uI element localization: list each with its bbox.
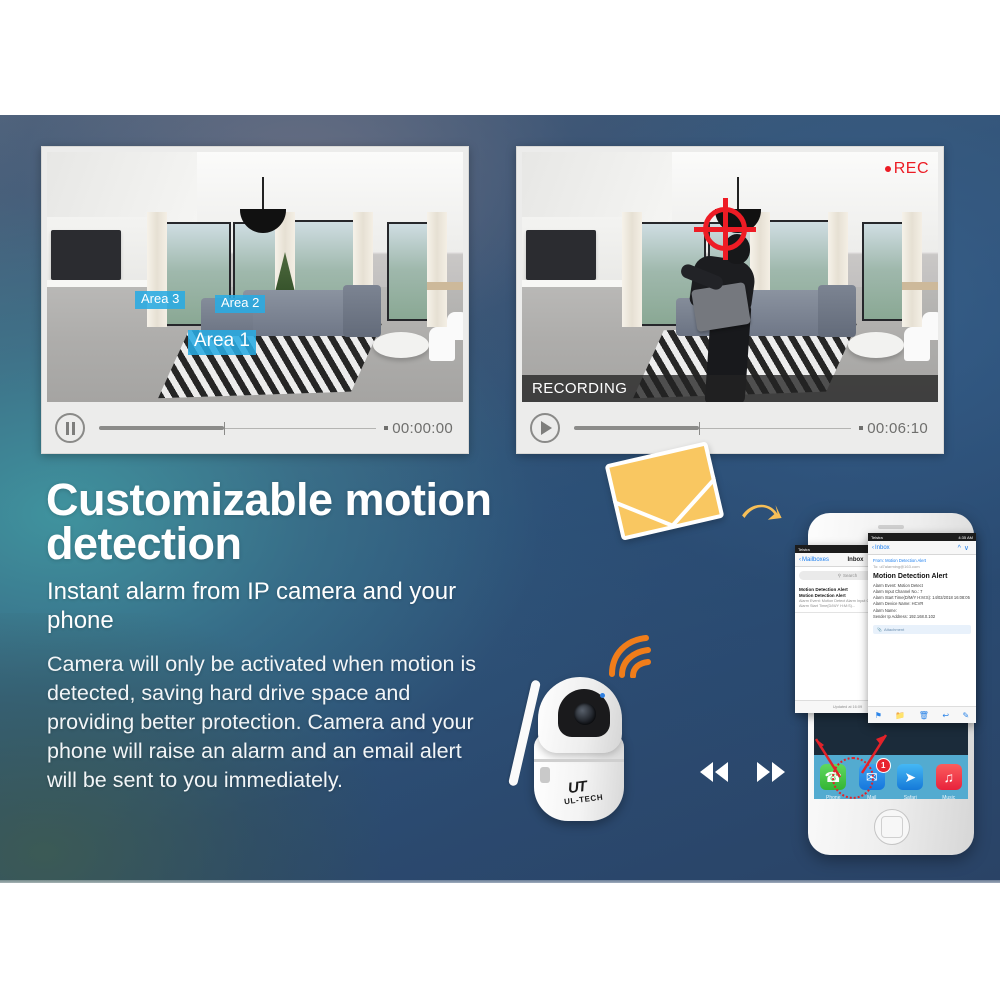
dock-app-music[interactable]: ♫ Music — [936, 764, 962, 790]
safari-icon: ➤ — [904, 769, 916, 786]
progress-fill — [574, 426, 699, 430]
flag-icon[interactable]: ⚑ — [875, 711, 882, 720]
back-label: Mailboxes — [802, 557, 829, 563]
ip-camera-product: UT UL-TECH — [512, 655, 652, 830]
fast-forward-icon — [772, 762, 785, 782]
progress-fill — [99, 426, 224, 430]
progress-slider-left[interactable] — [99, 421, 376, 435]
rewind-button[interactable] — [700, 762, 728, 782]
sofa-armchair — [343, 285, 381, 337]
timecode-left: 00:00:00 — [384, 420, 453, 437]
back-to-inbox-button[interactable]: ‹ Inbox — [872, 545, 890, 551]
area-tag-2[interactable]: Area 2 — [215, 295, 265, 313]
back-label: Inbox — [875, 545, 890, 551]
search-icon: ⚲ — [838, 573, 841, 579]
window-sill — [47, 280, 159, 287]
reply-icon[interactable]: ↩ — [942, 711, 949, 720]
mail-toolbar[interactable]: ⚑ 📁 🗑 ↩ ✎ — [868, 706, 976, 723]
camera-sd-slot — [540, 767, 550, 783]
crosshair-center-dot — [722, 226, 729, 233]
inbox-title: Inbox — [848, 557, 864, 563]
progress-handle[interactable] — [224, 422, 225, 435]
stolen-tv — [691, 282, 751, 332]
dining-chair — [922, 312, 938, 340]
pause-button[interactable] — [55, 413, 85, 443]
music-icon: ♫ — [944, 769, 955, 785]
pendant-cord — [262, 177, 264, 211]
carrier-label: Telstra — [871, 535, 883, 540]
trash-icon[interactable]: 🗑 — [919, 711, 929, 720]
fast-forward-button[interactable] — [757, 762, 785, 782]
home-button[interactable] — [874, 809, 910, 845]
attachment-chip[interactable]: 📎 Attachment — [873, 625, 971, 634]
folder-icon[interactable]: 📁 — [895, 711, 905, 720]
phone-earpiece — [878, 525, 904, 529]
rec-dot-icon — [885, 166, 891, 172]
area-tag-1[interactable]: Area 1 — [188, 330, 256, 355]
video-screen-right: REC RECORDING — [522, 152, 938, 402]
sofa-armchair — [818, 285, 856, 337]
ios-status-bar: Telstra 4:35 AM — [868, 533, 976, 541]
page-title: Customizable motion detection — [46, 478, 516, 566]
timecode-marker-icon — [859, 426, 863, 430]
camera-lens — [574, 703, 596, 725]
living-room-scene — [47, 152, 463, 402]
area-tag-3[interactable]: Area 3 — [135, 291, 185, 309]
video-player-right[interactable]: REC RECORDING 00:06:10 — [516, 146, 944, 454]
rec-label: REC — [894, 160, 929, 178]
dock-label-music: Music — [942, 795, 955, 801]
recording-banner: RECORDING — [522, 375, 938, 402]
chevron-left-icon: ‹ — [872, 545, 874, 551]
detail-nav-bar: ‹ Inbox ^∨ — [868, 541, 976, 555]
curtain — [902, 212, 922, 327]
window-pane — [862, 222, 906, 321]
rec-indicator: REC — [885, 160, 929, 178]
progress-slider-right[interactable] — [574, 421, 851, 435]
fast-forward-icon — [757, 762, 770, 782]
compose-icon[interactable]: ✎ — [963, 711, 970, 720]
video-screen-left: Area 3 Area 2 Area 1 — [47, 152, 463, 402]
timecode-left-value: 00:00:00 — [392, 420, 453, 437]
player-controls-right[interactable]: 00:06:10 — [522, 408, 938, 448]
rewind-icon — [700, 762, 713, 782]
message-nav-chevrons[interactable]: ^∨ — [958, 544, 972, 552]
dock-app-safari[interactable]: ➤ Safari — [897, 764, 923, 790]
camera-status-led — [600, 693, 605, 698]
curtain — [147, 212, 167, 327]
coffee-table — [848, 332, 904, 358]
mail-detail-screenshot[interactable]: Telstra 4:35 AM ‹ Inbox ^∨ From: Motion … — [868, 533, 976, 723]
mail-to: To: ul7alarming@163.com — [868, 563, 976, 571]
mail-detail-heading: Motion Detection Alert — [868, 571, 976, 583]
attachment-label: Attachment — [884, 627, 904, 632]
search-placeholder: Search — [843, 573, 857, 578]
paperclip-icon: 📎 — [877, 627, 882, 632]
wall-tv — [526, 230, 596, 280]
window-pane — [387, 222, 431, 321]
player-controls-left[interactable]: 00:00:00 — [47, 408, 463, 448]
carrier-label: Telstra — [798, 547, 810, 552]
curtain — [427, 212, 447, 327]
pause-icon — [66, 422, 75, 435]
rewind-icon — [715, 762, 728, 782]
back-to-mailboxes-button[interactable]: ‹ Mailboxes — [799, 557, 829, 563]
timecode-right-value: 00:06:10 — [867, 420, 928, 437]
subheading: Instant alarm from IP camera and your ph… — [47, 577, 487, 636]
coffee-table — [373, 332, 429, 358]
progress-handle[interactable] — [699, 422, 700, 435]
mail-from: From: Motion Detection Alert — [868, 555, 976, 563]
dock-label-phone: Phone — [826, 795, 840, 801]
window-sill — [522, 280, 634, 287]
timecode-marker-icon — [384, 426, 388, 430]
alarm-line: Sender Ip Address: 192.168.0.102 — [868, 614, 976, 620]
play-button[interactable] — [530, 413, 560, 443]
status-time: 4:35 AM — [958, 535, 973, 540]
dock-label-safari: Safari — [904, 795, 917, 801]
timecode-right: 00:06:10 — [859, 420, 928, 437]
dining-chair — [447, 312, 463, 340]
recording-label: RECORDING — [532, 380, 627, 397]
wall-tv — [51, 230, 121, 280]
body-paragraph: Camera will only be activated when motio… — [47, 650, 477, 795]
play-icon — [541, 421, 552, 435]
curtain — [622, 212, 642, 327]
dock-label-mail: Mail — [867, 795, 876, 801]
dining-table — [427, 282, 463, 290]
camera-seam — [534, 759, 624, 762]
callout-arrows — [800, 725, 900, 785]
chevron-left-icon: ‹ — [799, 557, 801, 563]
crosshair-target-icon — [694, 198, 756, 260]
video-player-left[interactable]: Area 3 Area 2 Area 1 00:00:00 — [41, 146, 469, 454]
dining-table — [902, 282, 938, 290]
